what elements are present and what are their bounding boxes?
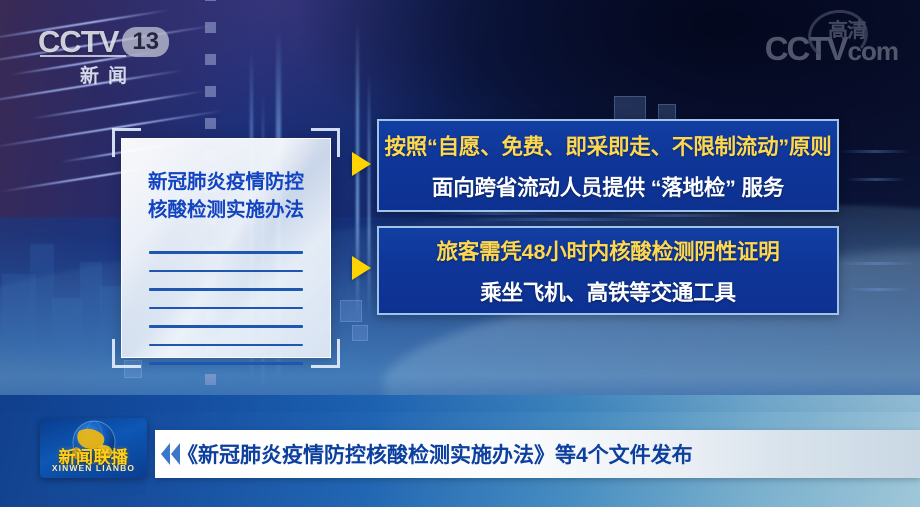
frame-corner-bottom-right (311, 339, 340, 368)
callout-box-2: 旅客需凭48小时内核酸检测阴性证明 乘坐飞机、高铁等交通工具 (377, 226, 839, 315)
callout-1-line-2: 面向跨省流动人员提供 “落地检” 服务 (432, 171, 784, 202)
arrow-right-icon (352, 152, 371, 176)
callout-1-line-1: 按照“自愿、免费、即采即走、不限制流动”原则 (384, 130, 831, 161)
document-body-line (149, 270, 303, 273)
decor-data-row (846, 288, 910, 291)
frame-corner-bottom-left (112, 339, 141, 368)
watermark-hd-label: 高清 (828, 14, 866, 43)
document-card: 新冠肺炎疫情防控 核酸检测实施办法 (121, 138, 331, 358)
document-body-line (149, 307, 303, 310)
frame-corner-top-right (311, 128, 340, 157)
document-title-line-1: 新冠肺炎疫情防控 (122, 169, 330, 197)
document-title: 新冠肺炎疫情防控 核酸检测实施办法 (122, 169, 330, 224)
document-graphic: 新冠肺炎疫情防控 核酸检测实施办法 (112, 128, 340, 368)
channel-number-badge: 13 (122, 27, 169, 58)
decor-square (340, 300, 362, 322)
decor-data-row (838, 262, 914, 265)
chevron-left-icon (161, 443, 181, 465)
program-logo: 新闻联播 XINWEN LIANBO (40, 418, 147, 478)
vertical-light-bar (368, 70, 370, 320)
document-title-line-2: 核酸检测实施办法 (122, 197, 330, 225)
decor-data-row (470, 218, 660, 221)
document-body-lines (149, 251, 303, 365)
document-body-line (149, 251, 303, 254)
headline-ticker: 《新冠肺炎疫情防控核酸检测实施办法》等4个文件发布 (155, 430, 920, 478)
frame-corner-top-left (112, 128, 141, 157)
document-body-line (149, 288, 303, 291)
cctv-com-watermark: 高清 CCTV com (765, 30, 898, 68)
channel-logo-underline (40, 55, 126, 57)
arrow-right-icon (352, 256, 371, 280)
callout-2-line-1: 旅客需凭48小时内核酸检测阴性证明 (436, 235, 779, 266)
decor-data-row (430, 212, 560, 215)
channel-logo: CCTV 13 新闻 (38, 24, 169, 88)
callout-box-1: 按照“自愿、免费、即采即走、不限制流动”原则 面向跨省流动人员提供 “落地检” … (377, 119, 839, 212)
decor-data-row (846, 178, 906, 181)
broadcast-screen: CCTV 13 新闻 高清 CCTV com 新冠肺炎疫情防控 核酸检测实施办法 (0, 0, 920, 507)
decor-square (352, 325, 368, 341)
decor-data-row (840, 150, 910, 153)
banner-tab-decor (48, 482, 146, 495)
document-body-line (149, 344, 303, 347)
callout-2-line-2: 乘坐飞机、高铁等交通工具 (480, 276, 736, 307)
document-body-line (149, 325, 303, 328)
program-name-en: XINWEN LIANBO (40, 463, 147, 473)
channel-name-label: 新闻 (71, 61, 136, 88)
decor-data-row (600, 214, 750, 217)
headline-text: 《新冠肺炎疫情防控核酸检测实施办法》等4个文件发布 (177, 439, 693, 469)
document-body-line (149, 362, 303, 365)
